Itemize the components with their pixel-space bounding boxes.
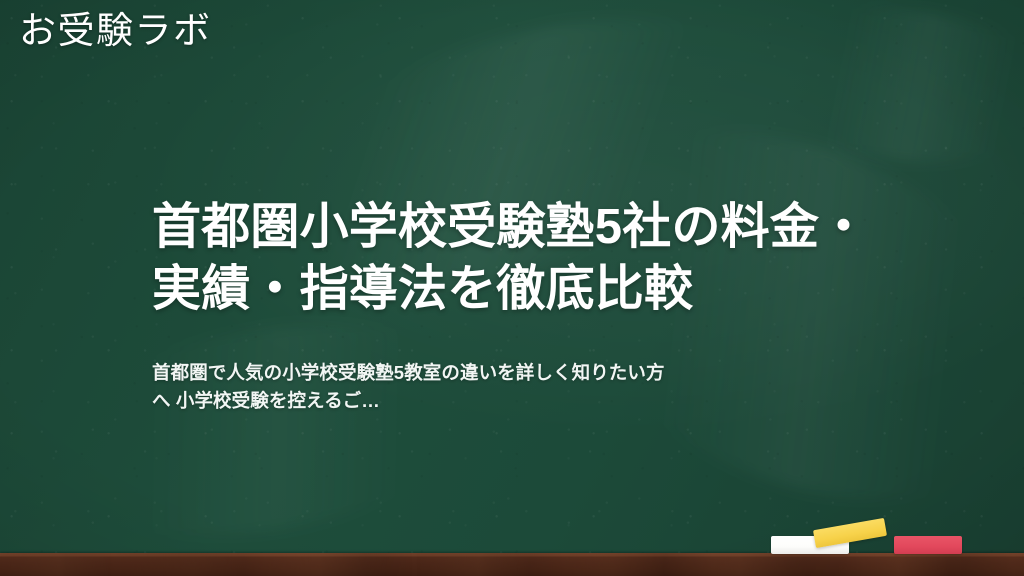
chalk-tray-ledge: [0, 553, 1024, 576]
chalk-stick-red-icon: [894, 536, 962, 554]
thumbnail-canvas: お受験ラボ 首都圏小学校受験塾5社の料金・実績・指導法を徹底比較 首都圏で人気の…: [0, 0, 1024, 576]
chalk-smear-decor: [17, 294, 513, 565]
wood-grain-texture: [0, 553, 1024, 576]
article-subtitle: 首都圏で人気の小学校受験塾5教室の違いを詳しく知りたい方へ 小学校受験を控えるご…: [152, 359, 676, 415]
article-title: 首都圏小学校受験塾5社の料金・実績・指導法を徹底比較: [152, 196, 900, 320]
site-logo-wordmark: お受験ラボ: [19, 8, 212, 54]
chalk-smear-decor: [733, 0, 1024, 177]
